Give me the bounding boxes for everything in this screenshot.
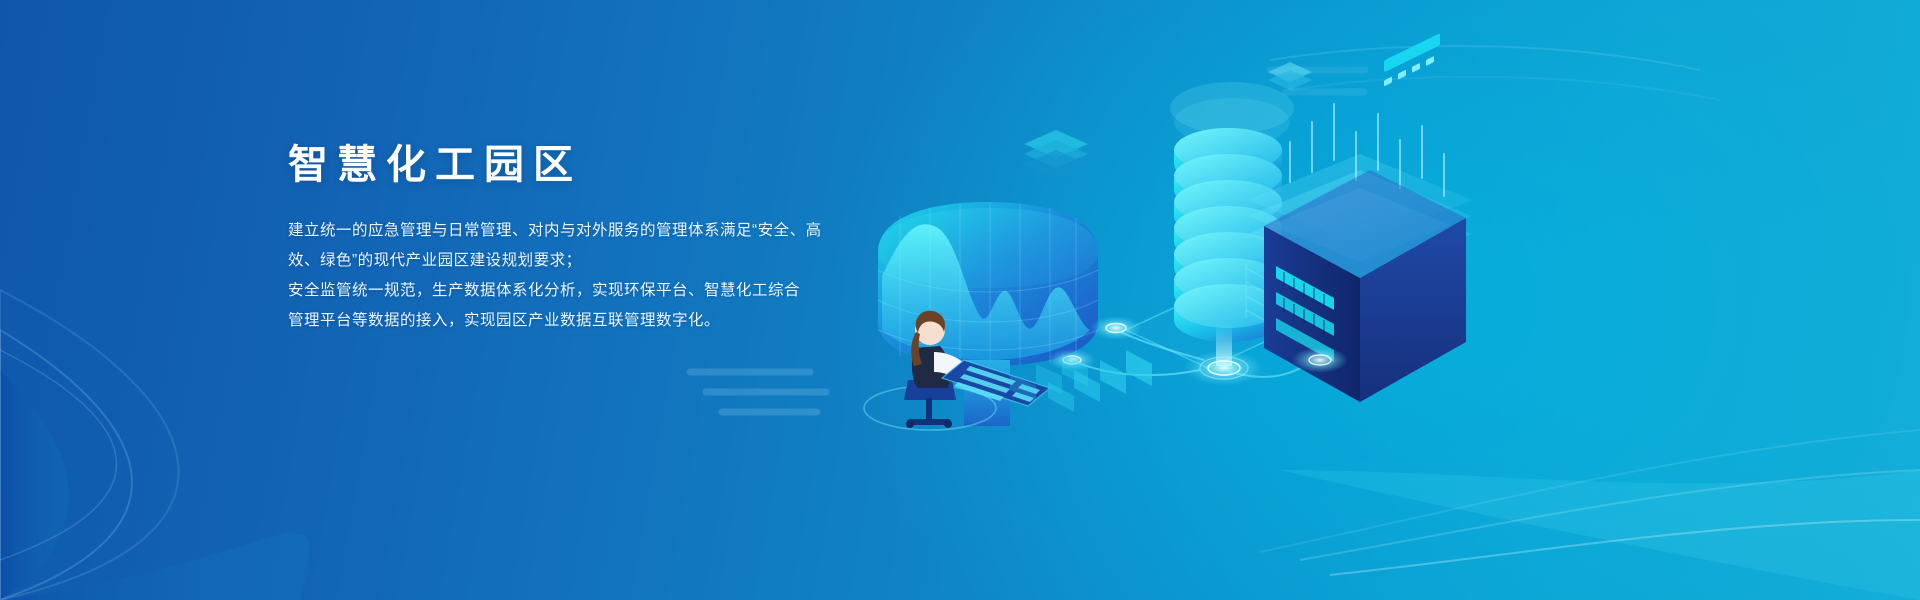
description-line: 管理平台等数据的接入，实现园区产业数据互联管理数字化。 bbox=[288, 306, 908, 336]
floating-layer-plates-small bbox=[1268, 62, 1312, 90]
description-line: 建立统一的应急管理与日常管理、对内与对外服务的管理体系满足“安全、高 bbox=[288, 216, 908, 246]
description-line: 效、绿色”的现代产业园区建设规划要求； bbox=[288, 246, 908, 276]
smart-chemical-park-illustration bbox=[860, 30, 1480, 460]
server-rack-cabinet bbox=[1246, 33, 1472, 402]
banner-description: 建立统一的应急管理与日常管理、对内与对外服务的管理体系满足“安全、高 效、绿色”… bbox=[288, 190, 908, 336]
hero-banner: 智慧化工园区 建立统一的应急管理与日常管理、对内与对外服务的管理体系满足“安全、… bbox=[0, 0, 1920, 600]
page-title: 智慧化工园区 bbox=[288, 140, 908, 190]
floating-layer-plates bbox=[1024, 130, 1088, 178]
glowing-connection-node-right bbox=[1292, 347, 1348, 373]
banner-text-block: 智慧化工园区 建立统一的应急管理与日常管理、对内与对外服务的管理体系满足“安全、… bbox=[288, 140, 908, 336]
description-line: 安全监管统一规范，生产数据体系化分析，实现环保平台、智慧化工综合 bbox=[288, 276, 908, 306]
